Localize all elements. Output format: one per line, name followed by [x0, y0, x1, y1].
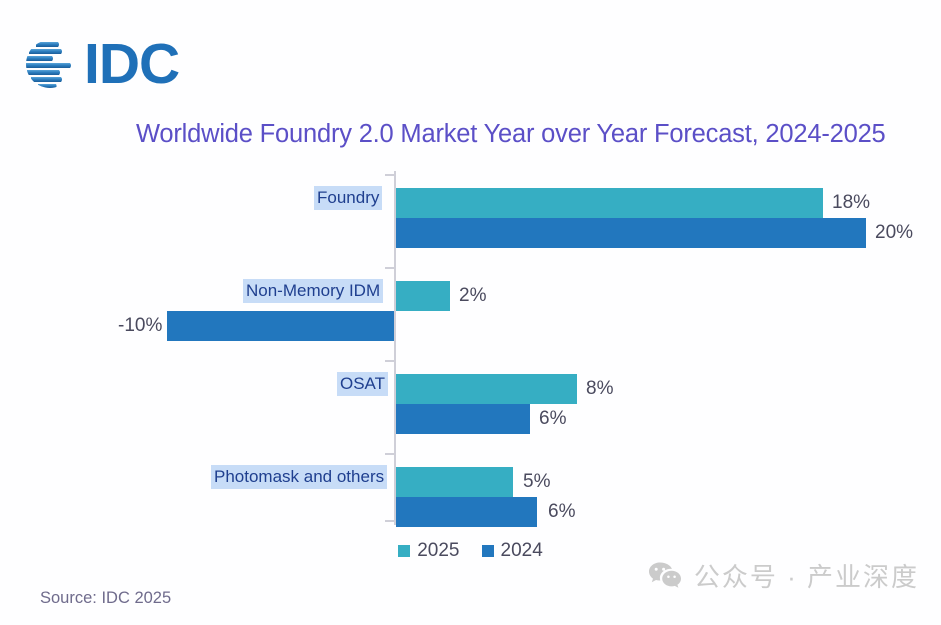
wechat-icon	[648, 561, 682, 591]
idc-globe-icon	[22, 36, 78, 92]
bar-value-label: 6%	[539, 404, 566, 434]
bar-2025	[396, 374, 577, 404]
bar-2024	[396, 218, 866, 248]
chart-page: IDC Worldwide Foundry 2.0 Market Year ov…	[0, 0, 941, 625]
legend-item-2025[interactable]: 2025	[398, 540, 459, 562]
bar-group: 5%6%Photomask and others	[0, 447, 941, 532]
watermark-text: 公众号 · 产业深度	[694, 557, 919, 594]
bar-2024	[396, 404, 530, 434]
bar-value-label: 2%	[459, 281, 486, 311]
bar-2025	[396, 281, 450, 311]
bar-2024	[167, 311, 394, 341]
bar-2024	[396, 497, 537, 527]
watermark: 公众号 · 产业深度	[648, 557, 919, 594]
bar-value-label: -10%	[118, 311, 162, 341]
bar-group: 18%20%Foundry	[0, 168, 941, 253]
bar-value-label: 20%	[875, 218, 913, 248]
legend-swatch-icon	[398, 545, 410, 557]
bar-value-label: 5%	[523, 467, 550, 497]
legend-label: 2024	[501, 540, 543, 562]
category-label: Photomask and others	[211, 465, 387, 489]
bar-value-label: 18%	[832, 188, 870, 218]
idc-logo-text: IDC	[84, 36, 179, 92]
category-label: OSAT	[337, 372, 388, 396]
chart-plot-area: 18%20%Foundry2%-10%Non-Memory IDM8%6%OSA…	[0, 168, 941, 530]
bar-value-label: 8%	[586, 374, 613, 404]
category-label: Non-Memory IDM	[243, 279, 383, 303]
bar-group: 8%6%OSAT	[0, 354, 941, 439]
bar-value-label: 6%	[548, 497, 575, 527]
legend-item-2024[interactable]: 2024	[482, 540, 543, 562]
idc-logo: IDC	[22, 36, 179, 92]
bar-2025	[396, 467, 513, 497]
legend-label: 2025	[417, 540, 459, 562]
bar-group: 2%-10%Non-Memory IDM	[0, 261, 941, 346]
source-note: Source: IDC 2025	[40, 589, 171, 608]
legend-swatch-icon	[482, 545, 494, 557]
bar-2025	[396, 188, 823, 218]
category-label: Foundry	[314, 186, 382, 210]
chart-title: Worldwide Foundry 2.0 Market Year over Y…	[136, 120, 886, 149]
